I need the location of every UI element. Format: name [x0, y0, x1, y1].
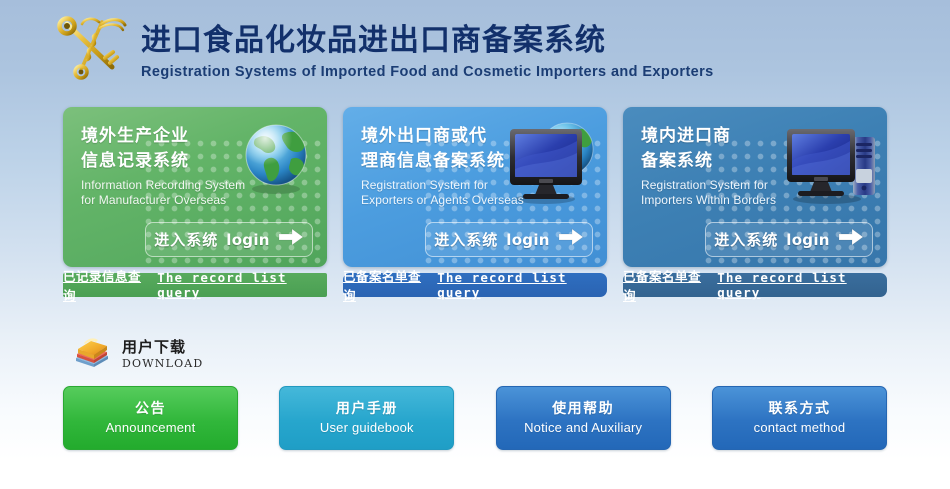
notice-auxiliary-button[interactable]: 使用帮助 Notice and Auxiliary [496, 386, 671, 450]
record-list-query-link[interactable]: 已记录信息查询 The record list query [63, 273, 327, 297]
arrow-right-icon [838, 228, 864, 251]
card-surface: 境外生产企业 信息记录系统 Information Recording Syst… [63, 107, 327, 267]
card-subtitle-en-line2: for Manufacturer Overseas [81, 193, 266, 208]
card-title-cn-line2: 备案系统 [641, 148, 816, 173]
login-label-cn: 进入系统 [154, 229, 218, 250]
login-label-cn: 进入系统 [434, 229, 498, 250]
card-subtitle-en-line2: Importers Within Borders [641, 193, 826, 208]
record-label-en: The record list query [717, 270, 887, 300]
download-label-en: DOWNLOAD [122, 357, 203, 370]
login-button[interactable]: 进入系统 login [705, 222, 873, 257]
system-cards: 境外生产企业 信息记录系统 Information Recording Syst… [63, 107, 887, 297]
download-labels: 用户下载 DOWNLOAD [122, 337, 203, 370]
record-list-query-link[interactable]: 已备案名单查询 The record list query [343, 273, 607, 297]
page-title-en: Registration Systems of Imported Food an… [141, 62, 714, 82]
button-label-cn: 联系方式 [768, 399, 830, 418]
arrow-right-icon [558, 228, 584, 251]
books-download-icon [72, 332, 112, 375]
user-guidebook-button[interactable]: 用户手册 User guidebook [279, 386, 454, 450]
button-label-en: User guidebook [320, 419, 414, 437]
card-title-cn-line1: 境外出口商或代 [361, 123, 536, 148]
card-subtitle-en: Registration System for Importers Within… [641, 178, 826, 208]
download-label-cn: 用户下载 [122, 339, 203, 357]
customs-caduceus-key-emblem-icon [55, 12, 133, 90]
card-subtitle-en-line1: Registration System for [361, 178, 546, 193]
page-title-cn: 进口食品化妆品进出口商备案系统 [141, 23, 714, 59]
record-label-cn: 已记录信息查询 [63, 266, 148, 304]
record-list-query-link[interactable]: 已备案名单查询 The record list query [623, 273, 887, 297]
bottom-button-row: 公告 Announcement 用户手册 User guidebook 使用帮助… [63, 386, 887, 450]
contact-method-button[interactable]: 联系方式 contact method [712, 386, 887, 450]
system-card-importers-within-borders[interactable]: 境内进口商 备案系统 Registration System for Impor… [623, 107, 887, 297]
page-header: 进口食品化妆品进出口商备案系统 Registration Systems of … [55, 10, 895, 92]
record-label-en: The record list query [437, 270, 607, 300]
card-subtitle-en-line2: Exporters or Agents Overseas [361, 193, 546, 208]
card-subtitle-en-line1: Information Recording System [81, 178, 266, 193]
card-title-cn-line1: 境内进口商 [641, 123, 816, 148]
card-surface: 境内进口商 备案系统 Registration System for Impor… [623, 107, 887, 267]
button-label-en: Announcement [106, 419, 196, 437]
card-content: 境内进口商 备案系统 Registration System for Impor… [623, 107, 887, 208]
login-label-en: login [506, 231, 550, 249]
button-label-cn: 使用帮助 [552, 399, 614, 418]
card-subtitle-en-line1: Registration System for [641, 178, 826, 193]
login-button[interactable]: 进入系统 login [425, 222, 593, 257]
card-content: 境外出口商或代 理商信息备案系统 Registration System for… [343, 107, 607, 208]
card-title-cn: 境外生产企业 信息记录系统 [81, 123, 256, 173]
login-label-en: login [786, 231, 830, 249]
card-subtitle-en: Information Recording System for Manufac… [81, 178, 266, 208]
card-title-cn-line2: 理商信息备案系统 [361, 148, 536, 173]
card-subtitle-en: Registration System for Exporters or Age… [361, 178, 546, 208]
card-title-cn: 境外出口商或代 理商信息备案系统 [361, 123, 536, 173]
arrow-right-icon [278, 228, 304, 251]
record-label-en: The record list query [157, 270, 327, 300]
card-content: 境外生产企业 信息记录系统 Information Recording Syst… [63, 107, 327, 208]
record-label-cn: 已备案名单查询 [623, 266, 708, 304]
button-label-cn: 用户手册 [336, 399, 398, 418]
record-label-cn: 已备案名单查询 [343, 266, 428, 304]
header-titles: 进口食品化妆品进出口商备案系统 Registration Systems of … [141, 21, 714, 82]
system-card-manufacturer-overseas[interactable]: 境外生产企业 信息记录系统 Information Recording Syst… [63, 107, 327, 297]
card-title-cn: 境内进口商 备案系统 [641, 123, 816, 173]
card-title-cn-line2: 信息记录系统 [81, 148, 256, 173]
button-label-en: contact method [754, 419, 846, 437]
card-surface: 境外出口商或代 理商信息备案系统 Registration System for… [343, 107, 607, 267]
login-label-en: login [226, 231, 270, 249]
system-card-exporters-agents-overseas[interactable]: 境外出口商或代 理商信息备案系统 Registration System for… [343, 107, 607, 297]
announcement-button[interactable]: 公告 Announcement [63, 386, 238, 450]
login-button[interactable]: 进入系统 login [145, 222, 313, 257]
card-title-cn-line1: 境外生产企业 [81, 123, 256, 148]
button-label-cn: 公告 [135, 399, 166, 418]
button-label-en: Notice and Auxiliary [524, 419, 642, 437]
login-label-cn: 进入系统 [714, 229, 778, 250]
download-section: 用户下载 DOWNLOAD [72, 332, 203, 375]
